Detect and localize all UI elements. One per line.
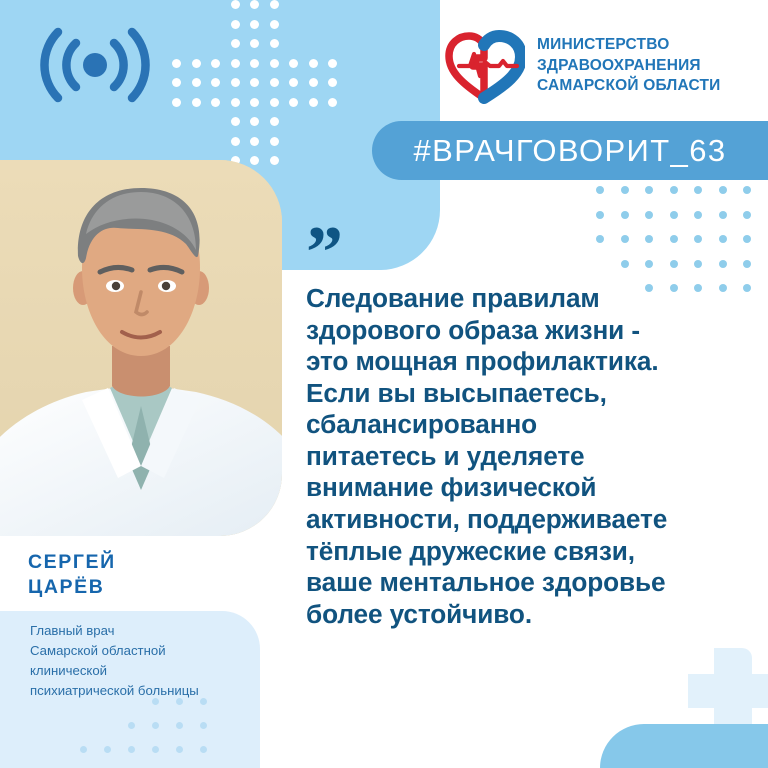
quote-line-1: Следование правилам (306, 283, 758, 315)
speaker-first-name: СЕРГЕЙ (28, 550, 278, 575)
speaker-last-name: ЦАРЁВ (28, 575, 278, 600)
dot-grid-pattern-bottom-left (80, 698, 250, 760)
bottom-right-accent-2 (660, 745, 768, 768)
social-card: МИНИСТЕРСТВО ЗДРАВООХРАНЕНИЯ САМАРСКОЙ О… (0, 0, 768, 768)
speaker-title-line-3: клинической (30, 661, 262, 681)
quote-line-3: это мощная профилактика. (306, 346, 758, 378)
quote-line-10: ваше ментальное здоровье (306, 567, 758, 599)
quote-line-4: Если вы высыпаетесь, (306, 378, 758, 410)
quote-line-9: тёплые дружеские связи, (306, 536, 758, 568)
speaker-title-line-2: Самарской областной (30, 641, 262, 661)
quote-line-11: более устойчиво. (306, 599, 758, 631)
ministry-logo: МИНИСТЕРСТВО ЗДРАВООХРАНЕНИЯ САМАРСКОЙ О… (443, 24, 735, 108)
quote-mark-icon: ” (306, 216, 343, 290)
broadcast-signal-icon (36, 26, 154, 104)
speaker-photo (0, 160, 282, 536)
quote-line-7: внимание физической (306, 472, 758, 504)
logo-line-2: ЗДРАВООХРАНЕНИЯ (537, 56, 721, 76)
speaker-title-line-1: Главный врач (30, 621, 262, 641)
speaker-name: СЕРГЕЙ ЦАРЁВ (28, 550, 278, 600)
quote-line-8: активности, поддерживаете (306, 504, 758, 536)
logo-line-3: САМАРСКОЙ ОБЛАСТИ (537, 76, 721, 96)
speaker-title: Главный врач Самарской областной клиниче… (30, 621, 262, 701)
quote-line-6: питаетесь и уделяете (306, 441, 758, 473)
hashtag-label: #ВРАЧГОВОРИТ_63 (414, 133, 727, 169)
quote-text: Следование правилам здорового образа жиз… (306, 283, 758, 630)
quote-line-5: сбалансированно (306, 409, 758, 441)
dotted-plus-pattern (172, 0, 362, 130)
heart-pulse-logo (443, 28, 525, 104)
ministry-logo-text: МИНИСТЕРСТВО ЗДРАВООХРАНЕНИЯ САМАРСКОЙ О… (537, 35, 721, 96)
hashtag-banner: #ВРАЧГОВОРИТ_63 (372, 121, 768, 180)
quote-line-2: здорового образа жизни - (306, 315, 758, 347)
logo-line-1: МИНИСТЕРСТВО (537, 35, 721, 55)
